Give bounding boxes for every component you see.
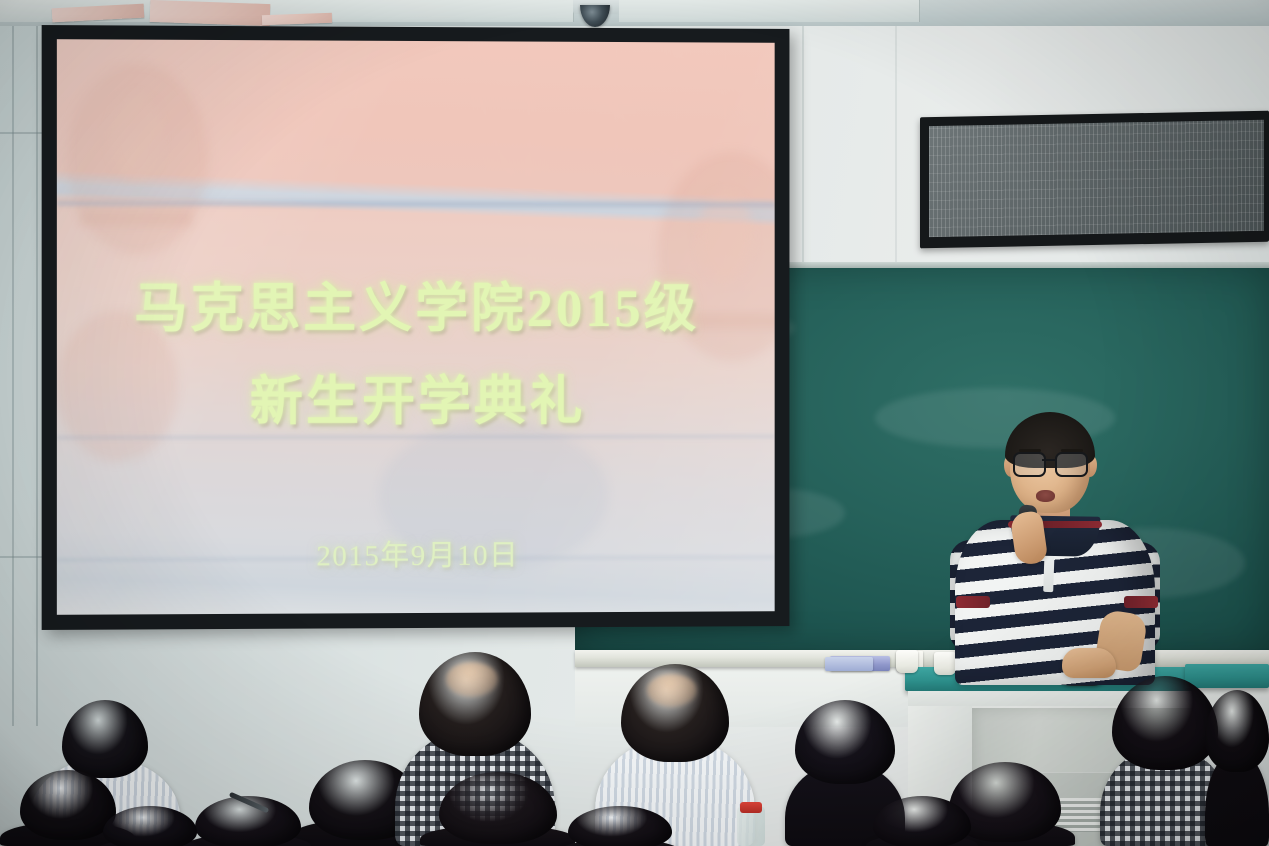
slide-title-line-1: 马克思主义学院2015级	[57, 266, 775, 342]
audience-member	[1205, 690, 1269, 846]
wall-seam	[802, 26, 804, 276]
wall-seam	[895, 26, 897, 276]
audience-member	[420, 772, 575, 846]
paper-scrap	[150, 0, 271, 26]
audience-scalp-highlight	[647, 674, 697, 707]
audience-head	[439, 772, 557, 844]
speaker-hand-on-desk	[1062, 648, 1116, 678]
audience-head	[1205, 690, 1269, 772]
ceiling-panel	[619, 0, 920, 22]
audience-member	[866, 796, 978, 846]
glasses-left-lens	[1013, 452, 1046, 477]
audience-head	[795, 700, 895, 784]
glasses-bridge	[1042, 459, 1057, 461]
speaker-glasses	[1008, 452, 1094, 474]
water-bottle-cap	[740, 802, 762, 813]
audience-head	[568, 806, 672, 846]
presentation-slide: 马克思主义学院2015级 新生开学典礼 2015年9月10日	[57, 39, 775, 615]
projection-screen: 马克思主义学院2015级 新生开学典礼 2015年9月10日	[42, 25, 790, 630]
speaker-right-cuff	[1124, 596, 1158, 608]
audience-member	[95, 806, 205, 846]
ceiling-panel	[318, 0, 574, 22]
led-display-sign	[920, 111, 1269, 249]
paper-cup	[896, 650, 918, 673]
audience-scalp-highlight	[446, 662, 498, 697]
speaker-mouth	[1036, 490, 1055, 502]
blue-folder	[825, 657, 873, 671]
slide-date-line: 2015年9月10日	[57, 531, 775, 576]
slide-title-line-2: 新生开学典礼	[57, 359, 775, 436]
wall-seam	[0, 132, 44, 134]
audience-head	[103, 806, 197, 846]
audience-head	[1112, 676, 1218, 770]
led-display-face	[929, 120, 1264, 237]
wall-seam	[12, 26, 14, 726]
classroom-photo: 马克思主义学院2015级 新生开学典礼 2015年9月10日	[0, 0, 1269, 846]
speaker-left-cuff	[956, 596, 990, 608]
wall-seam	[36, 26, 38, 726]
paper-cup	[934, 652, 956, 675]
audience-head	[873, 796, 971, 846]
audience-head	[62, 700, 148, 778]
wall-seam	[0, 556, 44, 558]
glasses-right-lens	[1055, 452, 1088, 477]
audience-member	[560, 806, 680, 846]
